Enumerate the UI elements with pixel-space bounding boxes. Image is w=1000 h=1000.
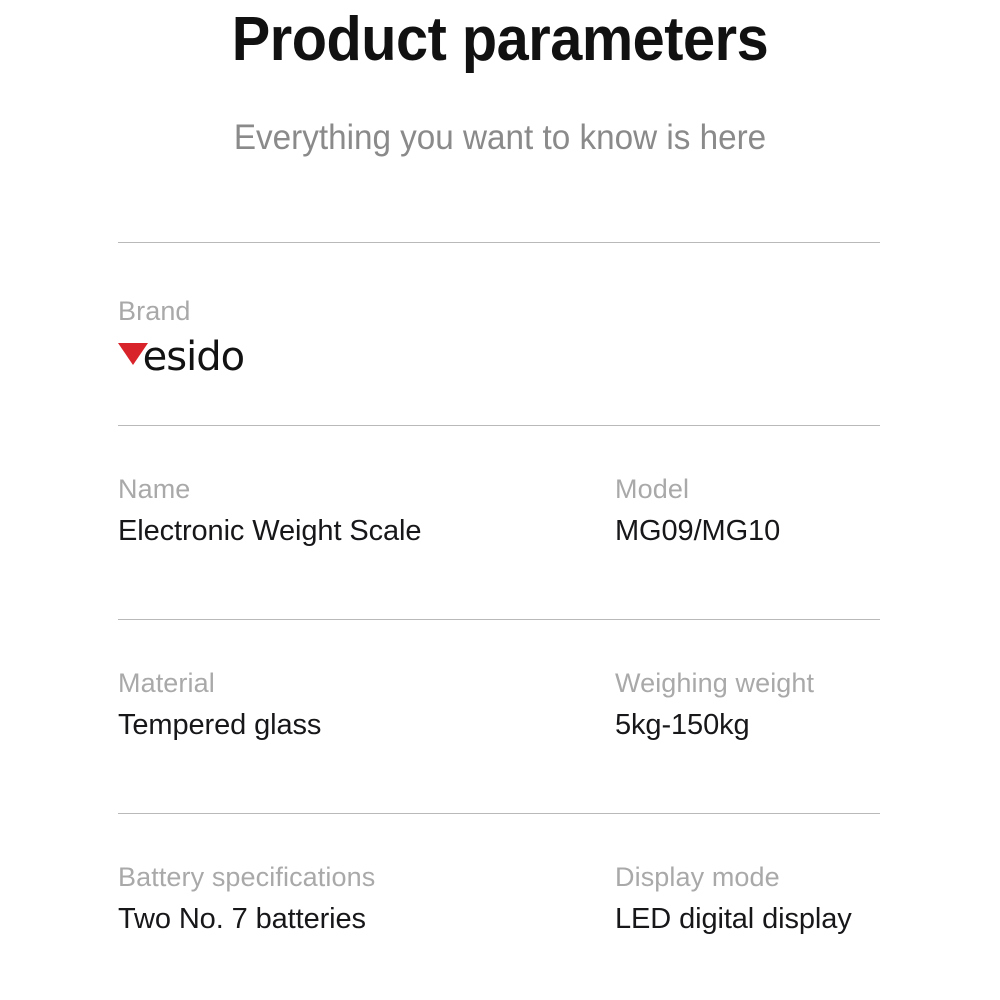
- spec-cell-brand-right: [615, 295, 880, 425]
- wordmark-y-glyph: y: [120, 334, 143, 380]
- spec-label-display-mode: Display mode: [615, 861, 880, 893]
- wordmark-tail: esido: [143, 334, 244, 380]
- spec-cell-model: Model MG09/MG10: [615, 473, 880, 619]
- spec-cell-battery-specifications: Battery specifications Two No. 7 batteri…: [118, 861, 615, 974]
- yesido-wordmark: yesido: [120, 335, 244, 379]
- spec-cell-material: Material Tempered glass: [118, 667, 615, 813]
- spec-cell-name: Name Electronic Weight Scale: [118, 473, 615, 619]
- spec-value-model: MG09/MG10: [615, 505, 880, 548]
- product-parameters-page: Product parameters Everything you want t…: [0, 0, 1000, 1000]
- spec-label-name: Name: [118, 473, 615, 505]
- page-subtitle: Everything you want to know is here: [25, 76, 975, 158]
- yesido-logo: yesido: [118, 327, 615, 387]
- spec-value-material: Tempered glass: [118, 699, 615, 742]
- page-header: Product parameters Everything you want t…: [0, 0, 1000, 158]
- spec-label-weighing-weight: Weighing weight: [615, 667, 880, 699]
- spec-value-display-mode: LED digital display: [615, 893, 880, 936]
- spec-value-battery-specifications: Two No. 7 batteries: [118, 893, 615, 936]
- spec-value-weighing-weight: 5kg-150kg: [615, 699, 880, 742]
- spec-table: Brand yesido Name Electronic Weight Scal…: [118, 242, 880, 974]
- spec-value-name: Electronic Weight Scale: [118, 505, 615, 548]
- page-title: Product parameters: [35, 0, 965, 76]
- spec-label-battery-specifications: Battery specifications: [118, 861, 615, 893]
- spec-label-material: Material: [118, 667, 615, 699]
- table-row-brand: Brand yesido: [118, 243, 880, 425]
- spec-cell-brand: Brand yesido: [118, 295, 615, 425]
- table-row: Battery specifications Two No. 7 batteri…: [118, 814, 880, 974]
- spec-cell-display-mode: Display mode LED digital display: [615, 861, 880, 974]
- table-row: Material Tempered glass Weighing weight …: [118, 620, 880, 813]
- table-row: Name Electronic Weight Scale Model MG09/…: [118, 426, 880, 619]
- spec-label-brand: Brand: [118, 295, 615, 327]
- spec-cell-weighing-weight: Weighing weight 5kg-150kg: [615, 667, 880, 813]
- spec-label-model: Model: [615, 473, 880, 505]
